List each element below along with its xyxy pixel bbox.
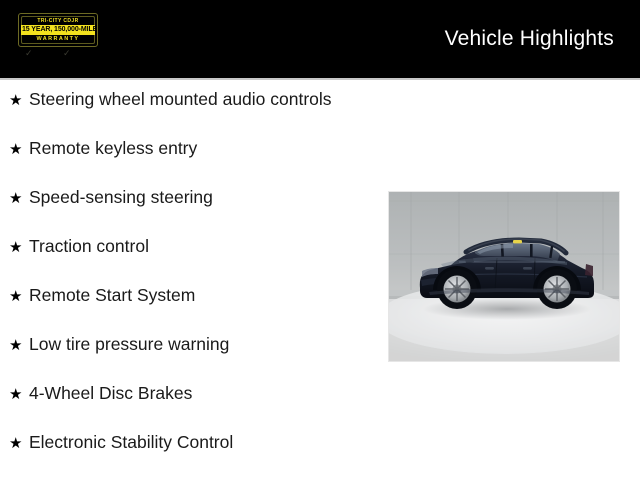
list-item: ★ Low tire pressure warning	[0, 333, 380, 382]
list-item-label: 4-Wheel Disc Brakes	[29, 382, 380, 404]
list-item: ★ Electronic Stability Control	[0, 431, 380, 480]
vehicle-highlights-list: ★ Steering wheel mounted audio controls …	[0, 88, 380, 480]
star-icon: ★	[9, 90, 29, 112]
star-icon: ★	[9, 139, 29, 161]
list-item-label: Remote keyless entry	[29, 137, 380, 159]
star-icon: ★	[9, 237, 29, 259]
list-item-label: Low tire pressure warning	[29, 333, 380, 355]
page-title: Vehicle Highlights	[445, 27, 614, 51]
star-icon: ★	[9, 286, 29, 308]
warranty-badge-warranty-word: WARRANTY	[21, 35, 95, 44]
list-item-label: Traction control	[29, 235, 380, 257]
check-icon: ✓	[63, 47, 71, 59]
vehicle-photo-image	[389, 192, 620, 362]
list-item: ★ Steering wheel mounted audio controls	[0, 88, 380, 137]
check-icon: ✓	[25, 47, 33, 59]
warranty-badge: TRI-CITY CDJR 15 YEAR, 150,000-MILE WARR…	[18, 13, 98, 47]
header-divider	[0, 78, 640, 80]
star-icon: ★	[9, 384, 29, 406]
list-item: ★ 4-Wheel Disc Brakes	[0, 382, 380, 431]
list-item: ★ Remote Start System	[0, 284, 380, 333]
list-item: ★ Traction control	[0, 235, 380, 284]
warranty-badge-term: 15 YEAR, 150,000-MILE	[21, 25, 95, 35]
star-icon: ★	[9, 188, 29, 210]
star-icon: ★	[9, 335, 29, 357]
list-item-label: Remote Start System	[29, 284, 380, 306]
vehicle-photo	[388, 191, 620, 362]
list-item-label: Steering wheel mounted audio controls	[29, 88, 380, 110]
warranty-badge-checkmarks: ✓ ✓	[18, 47, 98, 61]
list-item-label: Speed-sensing steering	[29, 186, 380, 208]
warranty-badge-dealer-name: TRI-CITY CDJR	[21, 16, 95, 25]
list-item: ★ Speed-sensing steering	[0, 186, 380, 235]
list-item: ★ Remote keyless entry	[0, 137, 380, 186]
list-item-label: Electronic Stability Control	[29, 431, 380, 453]
star-icon: ★	[9, 433, 29, 455]
